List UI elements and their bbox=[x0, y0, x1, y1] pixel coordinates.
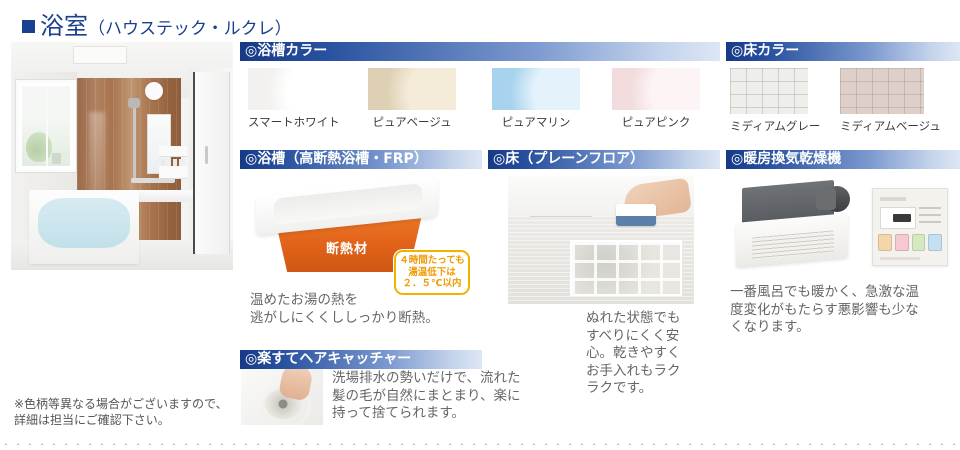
swatch-label: ミディアムベージュ bbox=[840, 118, 924, 134]
floor-color-swatch[interactable]: ミディアムベージュ bbox=[840, 68, 924, 134]
bathroom-door bbox=[193, 72, 230, 254]
upper-shelf bbox=[159, 146, 187, 157]
tub-color-swatch[interactable]: ピュアベージュ bbox=[368, 68, 456, 130]
door-handle bbox=[205, 146, 208, 164]
heater-face-panel bbox=[736, 213, 848, 267]
wall-light bbox=[145, 82, 163, 100]
floor-description: ぬれた状態でも すべりにくく安 心。乾きやすく お手入れもラク ラクです。 bbox=[586, 310, 726, 398]
page-title-sub: （ハウステック・ルクレ） bbox=[88, 14, 292, 39]
page-title-main: 浴室 bbox=[40, 6, 88, 41]
shower-pole bbox=[133, 104, 136, 182]
window bbox=[16, 80, 76, 172]
swatch-highlight bbox=[492, 68, 580, 110]
tub-color-swatch[interactable]: ピュアピンク bbox=[612, 68, 700, 130]
footer-dotted-divider-left bbox=[0, 443, 240, 445]
temperature-callout-badge: ４時間たっても 湯温低下は ２．５℃以内 bbox=[394, 250, 470, 295]
heater-grille bbox=[752, 230, 834, 259]
window-mullion bbox=[46, 86, 48, 166]
floor-color-swatch[interactable]: ミディアムグレー bbox=[730, 68, 808, 134]
swatch-label: ピュアピンク bbox=[612, 114, 700, 130]
floor-cleaning-photo bbox=[508, 176, 694, 304]
hair-catcher-photo bbox=[241, 369, 323, 425]
tub-inner-basin bbox=[274, 183, 422, 225]
bullet-square-icon bbox=[22, 20, 35, 33]
swatch-chip bbox=[368, 68, 456, 110]
swatch-tile bbox=[840, 68, 924, 114]
swatch-chip bbox=[612, 68, 700, 110]
tub-description: 温めたお湯の熱を 逃がしにくくししっかり断熱。 bbox=[250, 292, 480, 327]
cleaning-sponge bbox=[616, 204, 656, 226]
floor-photo-seam bbox=[530, 216, 592, 217]
swatch-highlight bbox=[368, 68, 456, 110]
shower-head bbox=[128, 98, 140, 108]
swatch-highlight bbox=[248, 68, 336, 110]
section-header-hair-catcher: ◎楽すてヘアキャッチャー bbox=[240, 350, 482, 369]
remote-top-label bbox=[880, 197, 906, 201]
page-title: 浴室 （ハウステック・ルクレ） bbox=[22, 6, 292, 41]
heater-description: 一番風呂でも暖かく、急激な温 度変化がもたらす悪影響も少な くなります。 bbox=[730, 284, 960, 337]
section-header-tub: ◎浴槽（高断熱浴槽・FRP） bbox=[240, 150, 482, 169]
swatch-label: ピュアベージュ bbox=[368, 114, 456, 130]
remote-bottom-label bbox=[880, 257, 920, 260]
ceiling-vent bbox=[73, 46, 127, 64]
section-header-tub-color: ◎浴槽カラー bbox=[240, 42, 720, 61]
swatch-label: ピュアマリン bbox=[492, 114, 580, 130]
swatch-label: ミディアムグレー bbox=[730, 118, 808, 134]
remote-button-heat bbox=[878, 234, 892, 251]
swatch-tile bbox=[730, 68, 808, 114]
remote-side-labels bbox=[919, 207, 941, 227]
faucet-bar bbox=[131, 178, 175, 183]
tree-outside bbox=[26, 132, 52, 162]
product-spec-page: 浴室 （ハウステック・ルクレ） ◎浴槽カラ bbox=[0, 0, 960, 450]
tub-color-swatch[interactable]: スマートホワイト bbox=[248, 68, 336, 130]
bathroom-interior-photo bbox=[11, 42, 233, 270]
swatch-highlight bbox=[612, 68, 700, 110]
remote-button-cool bbox=[928, 234, 942, 251]
bath-water bbox=[38, 198, 130, 248]
remote-button-row bbox=[878, 234, 942, 251]
insulated-bathtub-illustration: 断熱材 ４時間たっても 湯温低下は ２．５℃以内 bbox=[252, 178, 442, 286]
plant-pot bbox=[52, 153, 61, 164]
hair-catcher-description: 洗場排水の勢いだけで、流れた 髪の毛が自然にまとまり、楽に 持って捨てられます。 bbox=[332, 370, 582, 423]
remote-lcd-readout bbox=[893, 214, 911, 222]
disclaimer-note: ※色柄等異なる場合がございますので、 詳細は担当にご確認下さい。 bbox=[14, 396, 228, 428]
remote-button-dry bbox=[895, 234, 909, 251]
floor-texture-inset bbox=[570, 240, 682, 296]
bathtub bbox=[29, 190, 139, 264]
ventilation-dryer-unit-photo bbox=[736, 178, 856, 270]
tub-color-swatch[interactable]: ピュアマリン bbox=[492, 68, 580, 130]
swatch-chip bbox=[248, 68, 336, 110]
footer-dotted-divider-right bbox=[240, 443, 960, 445]
heater-remote-control-photo bbox=[872, 188, 948, 266]
section-header-floor-color: ◎床カラー bbox=[726, 42, 960, 61]
remote-button-vent bbox=[912, 234, 926, 251]
remote-lcd-display bbox=[880, 207, 916, 229]
section-header-heater: ◎暖房換気乾燥機 bbox=[726, 150, 960, 169]
duct-neck bbox=[816, 188, 836, 210]
swatch-chip bbox=[492, 68, 580, 110]
swatch-label: スマートホワイト bbox=[248, 114, 336, 130]
section-header-floor: ◎床（プレーンフロア） bbox=[488, 150, 720, 169]
